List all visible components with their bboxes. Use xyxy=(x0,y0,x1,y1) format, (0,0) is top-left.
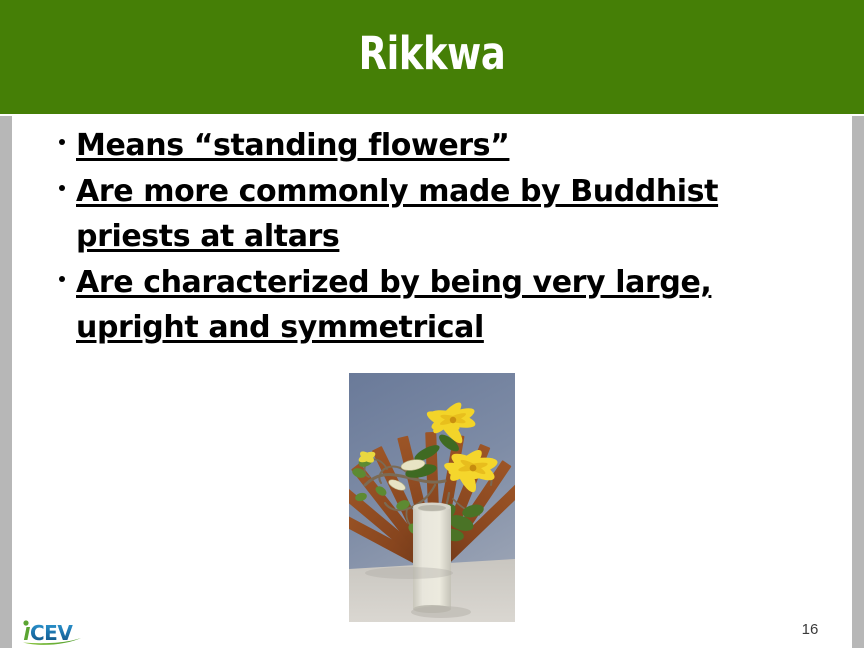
left-gray-rail xyxy=(0,116,12,648)
bullet-item: Are more commonly made by Buddhist pries… xyxy=(57,169,837,259)
bullet-dot-icon xyxy=(59,185,65,191)
bullet-line: Are characterized by being very large, xyxy=(76,265,711,300)
bullet-text: Means “standing flowers” xyxy=(76,123,837,168)
slide-title: Rikkwa xyxy=(78,26,786,82)
svg-text:CEV: CEV xyxy=(30,621,73,645)
ikebana-arrangement-photo xyxy=(349,373,515,622)
bullet-item: Means “standing flowers” xyxy=(57,123,837,168)
bullet-item: Are characterized by being very large, u… xyxy=(57,260,837,350)
bullet-line-wrap: priests at altars xyxy=(76,219,339,254)
bullet-text: Are more commonly made by Buddhist pries… xyxy=(76,169,837,259)
bullet-line: Are more commonly made by Buddhist xyxy=(76,174,718,209)
bullet-text: Are characterized by being very large, u… xyxy=(76,260,837,350)
bullet-dot-icon xyxy=(59,139,65,145)
icev-logo: CEV xyxy=(17,617,97,645)
bullet-line-wrap: upright and symmetrical xyxy=(76,310,484,345)
bullet-dot-icon xyxy=(59,276,65,282)
bullet-line: Means “standing flowers” xyxy=(76,128,509,163)
page-number: 16 xyxy=(780,621,840,638)
right-gray-rail xyxy=(852,116,864,648)
slide: Rikkwa Means “standing flowers” Are more… xyxy=(0,0,864,648)
bullet-list: Means “standing flowers” Are more common… xyxy=(57,123,837,351)
